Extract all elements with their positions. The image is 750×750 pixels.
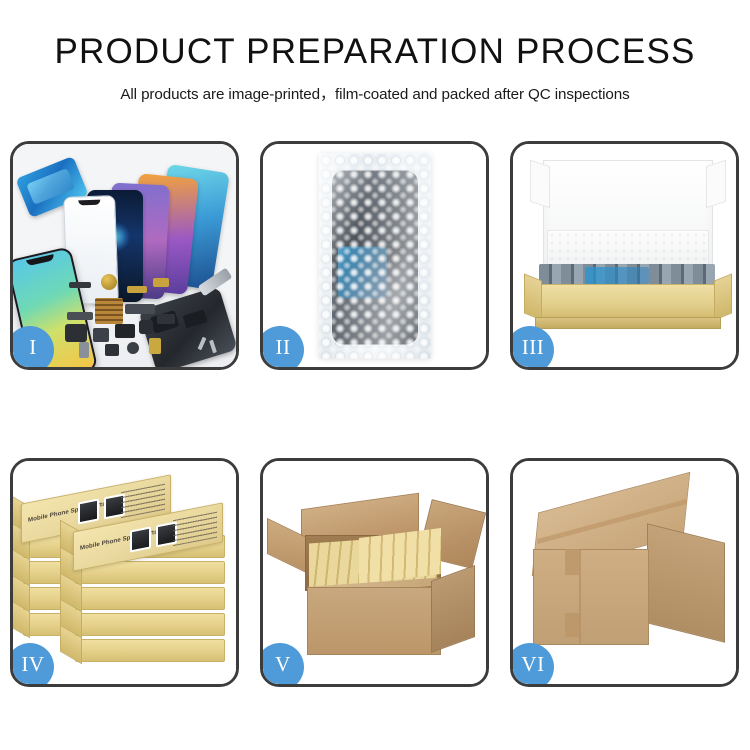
plastic-sheen <box>319 153 431 358</box>
step-badge-6: VI <box>510 643 554 687</box>
retail-box <box>75 587 225 610</box>
process-step-panel-5: V <box>260 458 489 687</box>
box-window-artwork <box>130 526 151 552</box>
spare-part <box>69 282 91 288</box>
retail-box <box>75 613 225 636</box>
spare-part <box>127 342 139 354</box>
spare-part <box>139 320 153 334</box>
carton-side-face <box>647 523 725 642</box>
header: PRODUCT PREPARATION PROCESS All products… <box>0 34 750 104</box>
box-spec-text-lines <box>121 484 165 519</box>
product-preparation-infographic: PRODUCT PREPARATION PROCESS All products… <box>0 0 750 750</box>
spare-part <box>115 324 135 338</box>
process-step-panel-1: I <box>10 141 239 370</box>
kraft-box-body <box>535 284 721 318</box>
step-badge-4: IV <box>10 643 54 687</box>
carton-tape-lower <box>565 613 579 637</box>
box-spec-text-lines <box>173 512 217 547</box>
spare-part <box>105 344 119 356</box>
carton-front-face <box>307 587 441 655</box>
carton-front-face <box>533 549 649 645</box>
bubble-wrap-pouch <box>319 153 431 358</box>
process-step-panel-4: Mobile Phone Spare Parts Mobile Phone Sp… <box>10 458 239 687</box>
screws-icon <box>196 333 222 359</box>
spare-part <box>65 324 87 342</box>
step-badge-2: II <box>260 326 304 370</box>
spare-part <box>125 304 155 314</box>
box-window-artwork <box>78 498 99 524</box>
step-badge-3: III <box>510 326 554 370</box>
spare-part <box>93 328 109 342</box>
carton-tape-upper <box>565 549 579 575</box>
spare-part <box>153 278 169 287</box>
process-step-panel-3: III <box>510 141 739 370</box>
step-badge-5: V <box>260 643 304 687</box>
spare-part <box>79 342 89 358</box>
retail-box-stack: Mobile Phone Spare Parts Mobile Phone Sp… <box>13 473 236 678</box>
process-step-panel-6: VI <box>510 458 739 687</box>
process-step-panel-2: II <box>260 141 489 370</box>
spare-part <box>95 298 123 324</box>
spare-part <box>67 312 93 320</box>
kraft-box-front-edge <box>535 317 721 329</box>
step-badge-1: I <box>10 326 54 370</box>
retail-box <box>75 639 225 662</box>
process-step-grid: I II <box>10 141 740 687</box>
page-subtitle: All products are image-printed，film-coat… <box>0 82 750 104</box>
spare-part <box>149 338 161 354</box>
spare-parts-cluster <box>65 272 193 364</box>
carton-vertical-seam <box>579 549 581 645</box>
spare-part <box>157 314 175 324</box>
page-title: PRODUCT PREPARATION PROCESS <box>0 34 750 71</box>
spare-part <box>127 286 147 293</box>
spare-part <box>101 274 117 290</box>
